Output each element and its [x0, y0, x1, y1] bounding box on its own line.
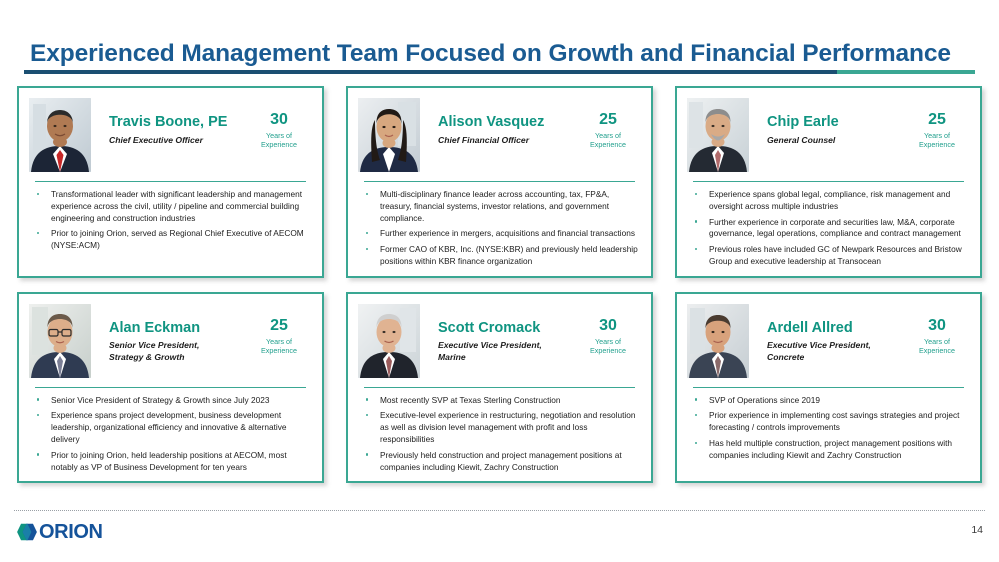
years-experience-label: Years of Experience: [904, 131, 970, 149]
bullet-text: Prior experience in implementing cost sa…: [709, 410, 959, 432]
person-identity: Ardell Allred Executive Vice President, …: [749, 304, 904, 364]
bullet-dot-icon: [366, 398, 368, 400]
list-item: Transformational leader with significant…: [29, 189, 312, 224]
person-name: Chip Earle: [767, 114, 904, 131]
card-divider: [364, 181, 635, 182]
years-experience-label: Years of Experience: [246, 131, 312, 149]
card-header: Ardell Allred Executive Vice President, …: [687, 304, 970, 378]
years-experience-label: Years of Experience: [904, 337, 970, 355]
person-name: Ardell Allred: [767, 320, 904, 337]
bullet-text: Most recently SVP at Texas Sterling Cons…: [380, 395, 560, 405]
list-item: Executive-level experience in restructur…: [358, 410, 641, 445]
list-item: Prior to joining Orion, held leadership …: [29, 450, 312, 474]
card-divider: [35, 387, 306, 388]
person-title-line2: Marine: [438, 352, 575, 364]
bullet-dot-icon: [366, 414, 368, 416]
team-card-alison-vasquez[interactable]: Alison Vasquez Chief Financial Officer 2…: [346, 86, 653, 278]
bullet-dot-icon: [366, 193, 368, 195]
team-row-2: Alan Eckman Senior Vice President, Strat…: [0, 292, 999, 484]
bullet-text: Experience spans global legal, complianc…: [709, 189, 950, 211]
bullet-text: Prior to joining Orion, served as Region…: [51, 228, 304, 250]
orion-logo: ORION: [16, 521, 103, 543]
person-title: Executive Vice President, Concrete: [767, 340, 904, 363]
person-title-line1: Executive Vice President,: [767, 340, 904, 352]
page-number: 14: [971, 524, 983, 536]
portrait-photo: [358, 304, 420, 378]
person-title: Senior Vice President, Strategy & Growth: [109, 340, 246, 363]
bullet-text: SVP of Operations since 2019: [709, 395, 820, 405]
page-title: Experienced Management Team Focused on G…: [30, 40, 951, 68]
bullet-dot-icon: [695, 248, 697, 250]
portrait-photo: [29, 98, 91, 172]
bullet-text: Senior Vice President of Strategy & Grow…: [51, 395, 269, 405]
person-identity: Travis Boone, PE Chief Executive Officer: [91, 98, 246, 146]
person-title-line2: Concrete: [767, 352, 904, 364]
bullet-text: Former CAO of KBR, Inc. (NYSE:KBR) and p…: [380, 244, 638, 266]
person-name: Scott Cromack: [438, 320, 575, 337]
team-card-ardell-allred[interactable]: Ardell Allred Executive Vice President, …: [675, 292, 982, 484]
portrait-photo: [687, 98, 749, 172]
bullet-dot-icon: [695, 442, 697, 444]
person-identity: Alison Vasquez Chief Financial Officer: [420, 98, 575, 146]
bullet-text: Transformational leader with significant…: [51, 189, 302, 223]
card-divider: [693, 387, 964, 388]
years-experience-number: 25: [904, 112, 970, 128]
list-item: Experience spans global legal, complianc…: [687, 189, 970, 213]
bullet-dot-icon: [37, 193, 39, 195]
bullet-text: Executive-level experience in restructur…: [380, 410, 636, 444]
person-identity: Scott Cromack Executive Vice President, …: [420, 304, 575, 364]
list-item: Further experience in corporate and secu…: [687, 217, 970, 241]
list-item: Previous roles have included GC of Newpa…: [687, 244, 970, 268]
bullet-dot-icon: [37, 398, 39, 400]
person-title-line1: Senior Vice President,: [109, 340, 246, 352]
years-experience-block: 25 Years of Experience: [904, 98, 970, 149]
card-header: Alison Vasquez Chief Financial Officer 2…: [358, 98, 641, 172]
person-name: Alan Eckman: [109, 320, 246, 337]
team-card-grid: Travis Boone, PE Chief Executive Officer…: [0, 86, 999, 497]
orion-hexagon-icon: [16, 521, 38, 543]
person-name: Alison Vasquez: [438, 114, 575, 131]
bullet-text: Previous roles have included GC of Newpa…: [709, 244, 962, 266]
card-divider: [364, 387, 635, 388]
person-title-line1: Chief Financial Officer: [438, 135, 575, 147]
card-header: Travis Boone, PE Chief Executive Officer…: [29, 98, 312, 172]
years-experience-number: 30: [575, 318, 641, 334]
years-experience-number: 25: [575, 112, 641, 128]
team-card-travis-boone[interactable]: Travis Boone, PE Chief Executive Officer…: [17, 86, 324, 278]
portrait-photo: [29, 304, 91, 378]
portrait-photo: [358, 98, 420, 172]
bullet-list: SVP of Operations since 2019 Prior exper…: [687, 395, 970, 462]
bullet-list: Experience spans global legal, complianc…: [687, 189, 970, 268]
bullet-dot-icon: [695, 220, 697, 222]
list-item: Senior Vice President of Strategy & Grow…: [29, 395, 312, 407]
bullet-list: Senior Vice President of Strategy & Grow…: [29, 395, 312, 474]
person-title: Chief Executive Officer: [109, 135, 246, 147]
years-experience-number: 25: [246, 318, 312, 334]
team-row-1: Travis Boone, PE Chief Executive Officer…: [0, 86, 999, 278]
list-item: SVP of Operations since 2019: [687, 395, 970, 407]
list-item: Has held multiple construction, project …: [687, 438, 970, 462]
bullet-text: Has held multiple construction, project …: [709, 438, 952, 460]
years-experience-block: 25 Years of Experience: [246, 304, 312, 355]
years-experience-block: 30 Years of Experience: [246, 98, 312, 149]
person-title: Chief Financial Officer: [438, 135, 575, 147]
bullet-list: Transformational leader with significant…: [29, 189, 312, 252]
person-identity: Chip Earle General Counsel: [749, 98, 904, 146]
bullet-dot-icon: [366, 232, 368, 234]
person-title-line2: Strategy & Growth: [109, 352, 246, 364]
person-title-line1: General Counsel: [767, 135, 904, 147]
team-card-chip-earle[interactable]: Chip Earle General Counsel 25 Years of E…: [675, 86, 982, 278]
bullet-list: Most recently SVP at Texas Sterling Cons…: [358, 395, 641, 474]
list-item: Experience spans project development, bu…: [29, 410, 312, 445]
bullet-dot-icon: [366, 248, 368, 250]
portrait-photo: [687, 304, 749, 378]
bullet-text: Previously held construction and project…: [380, 450, 622, 472]
person-title-line1: Chief Executive Officer: [109, 135, 246, 147]
years-experience-number: 30: [904, 318, 970, 334]
list-item: Prior to joining Orion, served as Region…: [29, 228, 312, 252]
years-experience-block: 25 Years of Experience: [575, 98, 641, 149]
card-header: Scott Cromack Executive Vice President, …: [358, 304, 641, 378]
bullet-dot-icon: [37, 453, 39, 455]
card-header: Alan Eckman Senior Vice President, Strat…: [29, 304, 312, 378]
years-experience-label: Years of Experience: [246, 337, 312, 355]
bullet-dot-icon: [695, 414, 697, 416]
orion-logo-text: ORION: [39, 521, 103, 543]
list-item: Multi-disciplinary finance leader across…: [358, 189, 641, 224]
years-experience-block: 30 Years of Experience: [575, 304, 641, 355]
list-item: Previously held construction and project…: [358, 450, 641, 474]
list-item: Former CAO of KBR, Inc. (NYSE:KBR) and p…: [358, 244, 641, 268]
person-identity: Alan Eckman Senior Vice President, Strat…: [91, 304, 246, 364]
bullet-list: Multi-disciplinary finance leader across…: [358, 189, 641, 268]
list-item: Most recently SVP at Texas Sterling Cons…: [358, 395, 641, 407]
years-experience-label: Years of Experience: [575, 131, 641, 149]
bullet-text: Further experience in mergers, acquisiti…: [380, 228, 635, 238]
card-header: Chip Earle General Counsel 25 Years of E…: [687, 98, 970, 172]
bullet-dot-icon: [37, 414, 39, 416]
footer-divider: [14, 510, 985, 511]
bullet-dot-icon: [37, 232, 39, 234]
team-card-scott-cromack[interactable]: Scott Cromack Executive Vice President, …: [346, 292, 653, 484]
bullet-text: Experience spans project development, bu…: [51, 410, 287, 444]
person-title-line1: Executive Vice President,: [438, 340, 575, 352]
title-underline-rule: [24, 70, 975, 74]
person-title: Executive Vice President, Marine: [438, 340, 575, 363]
bullet-text: Prior to joining Orion, held leadership …: [51, 450, 287, 472]
card-divider: [35, 181, 306, 182]
years-experience-label: Years of Experience: [575, 337, 641, 355]
person-name: Travis Boone, PE: [109, 114, 246, 131]
years-experience-block: 30 Years of Experience: [904, 304, 970, 355]
list-item: Further experience in mergers, acquisiti…: [358, 228, 641, 240]
card-divider: [693, 181, 964, 182]
team-card-alan-eckman[interactable]: Alan Eckman Senior Vice President, Strat…: [17, 292, 324, 484]
person-title: General Counsel: [767, 135, 904, 147]
years-experience-number: 30: [246, 112, 312, 128]
bullet-dot-icon: [695, 398, 697, 400]
list-item: Prior experience in implementing cost sa…: [687, 410, 970, 434]
bullet-dot-icon: [366, 453, 368, 455]
bullet-dot-icon: [695, 193, 697, 195]
bullet-text: Further experience in corporate and secu…: [709, 217, 961, 239]
bullet-text: Multi-disciplinary finance leader across…: [380, 189, 609, 223]
